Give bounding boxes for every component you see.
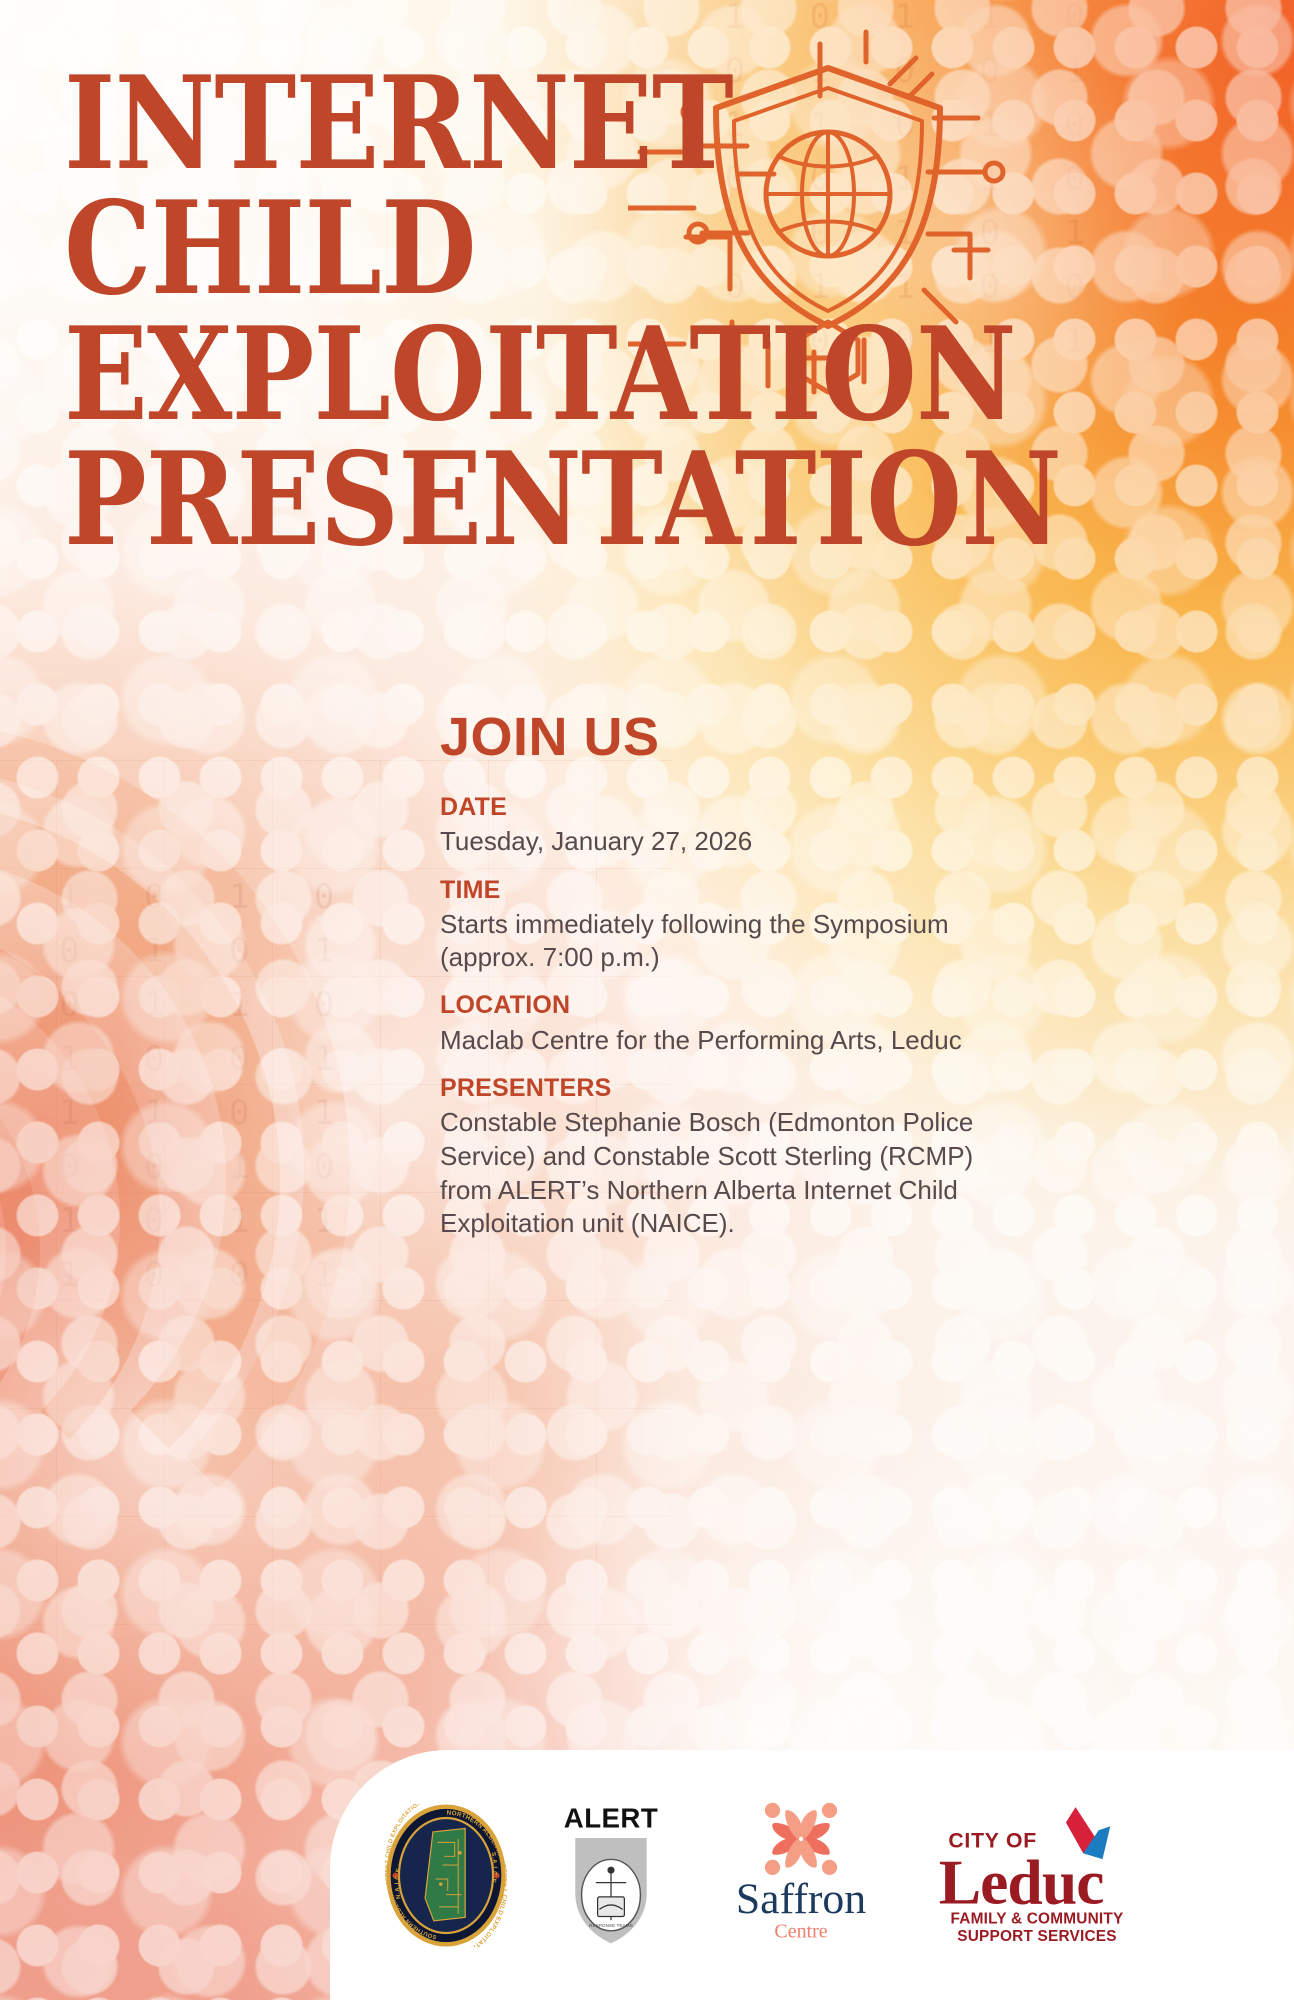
detail-field-presenters: PRESENTERS Constable Stephanie Bosch (Ed… — [440, 1073, 1000, 1241]
detail-label-date: DATE — [440, 792, 1000, 823]
sponsor-logo-bar: NORTHERN ALBERTA INTERNET CHILD EXPLOITA… — [330, 1750, 1294, 2000]
detail-value-presenters: Constable Stephanie Bosch (Edmonton Poli… — [440, 1106, 1000, 1241]
alert-logo: ALERT RESPONSE TEAMS — [526, 1804, 696, 1947]
saffron-centre-logo: Saffron Centre — [696, 1799, 906, 1951]
alert-crest-text: RESPONSE TEAMS — [589, 1923, 633, 1928]
saffron-subtext: Centre — [774, 1921, 827, 1943]
title-line-1: INTERNET — [64, 62, 778, 187]
detail-label-location: LOCATION — [440, 990, 1000, 1021]
title-line-3: EXPLOITATION — [64, 313, 778, 438]
detail-value-location: Maclab Centre for the Performing Arts, L… — [440, 1024, 1000, 1057]
naice-badge-logo: NORTHERN ALBERTA INTERNET CHILD EXPLOITA… — [366, 1804, 526, 1947]
leduc-line-1: FAMILY & COMMUNITY — [951, 1910, 1124, 1927]
event-poster: 1 0 1 1 0 0 1 0 0 1 1 1 0 1 0 0 0 1 1 0 … — [0, 0, 1294, 2000]
city-of-leduc-fcss-logo: CITY OF Leduc FAMILY & COMMUNITY SUPPORT… — [922, 1803, 1152, 1948]
title-line-4: PRESENTATION — [64, 438, 778, 563]
leduc-line-2: SUPPORT SERVICES — [957, 1928, 1116, 1945]
leduc-wordmark: Leduc — [939, 1846, 1104, 1917]
detail-value-date: Tuesday, January 27, 2026 — [440, 825, 1000, 858]
detail-field-date: DATE Tuesday, January 27, 2026 — [440, 792, 1000, 859]
join-us-heading: JOIN US — [440, 710, 1000, 764]
detail-field-location: LOCATION Maclab Centre for the Performin… — [440, 990, 1000, 1057]
detail-value-time: Starts immediately following the Symposi… — [440, 908, 1000, 975]
alert-wordmark: ALERT — [564, 1804, 658, 1833]
detail-label-presenters: PRESENTERS — [440, 1073, 1000, 1104]
saffron-wordmark: Saffron — [736, 1875, 866, 1923]
event-details: JOIN US DATE Tuesday, January 27, 2026 T… — [440, 710, 1000, 1257]
detail-label-time: TIME — [440, 875, 1000, 906]
title-line-2: CHILD — [64, 187, 778, 312]
page-title: INTERNET CHILD EXPLOITATION PRESENTATION — [64, 62, 778, 564]
detail-field-time: TIME Starts immediately following the Sy… — [440, 875, 1000, 975]
